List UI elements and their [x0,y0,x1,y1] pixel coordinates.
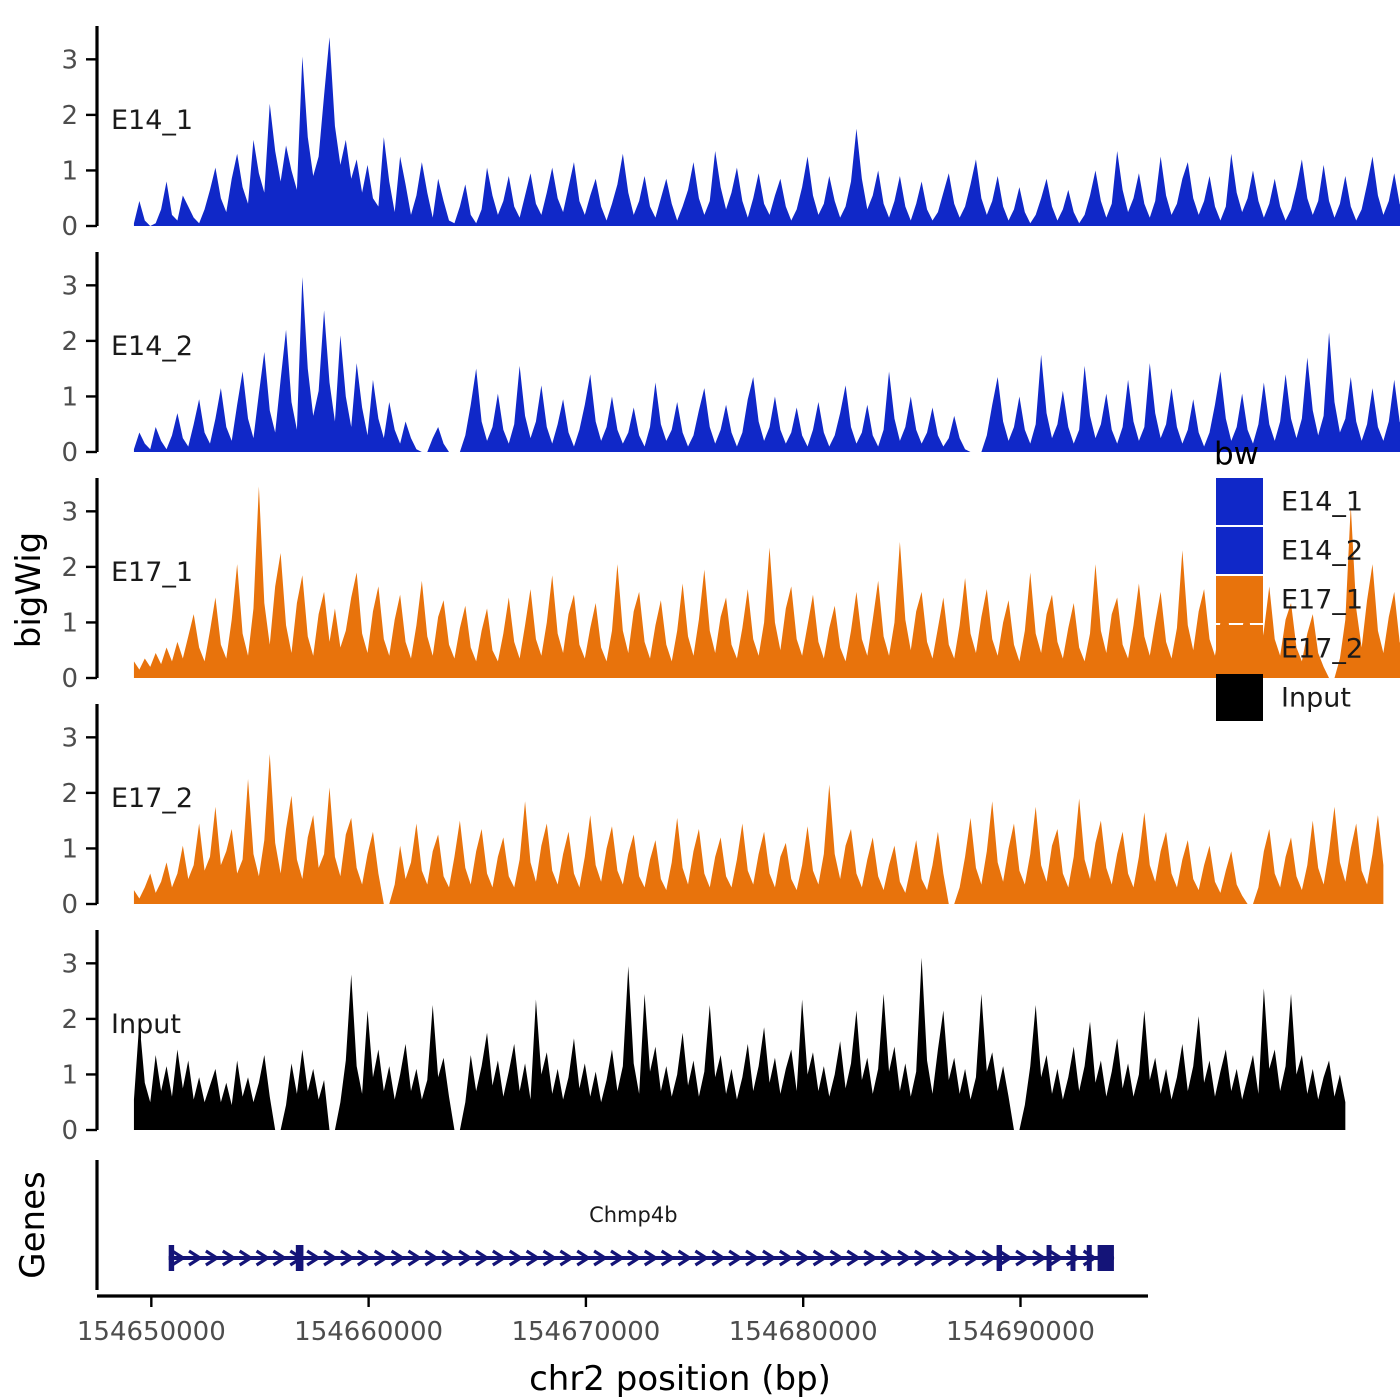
track-label-e17_1: E17_1 [111,557,193,588]
gene-exon-block [1070,1245,1075,1271]
track-label-e14_2: E14_2 [111,331,193,362]
y-tick-label: 2 [61,779,78,809]
gene-exon-block [296,1245,304,1271]
legend-swatch-e14_2[interactable] [1216,527,1263,574]
x-tick-label: 154650000 [77,1317,226,1347]
y-axis-title-bigwig: bigWig [9,532,49,649]
x-tick-label: 154670000 [511,1317,660,1347]
gene-exon-block [997,1245,1002,1271]
y-tick-label: 2 [61,1005,78,1035]
figure-root: bigWig Genes 0123E14_10123E14_20123E17_1… [0,0,1400,1400]
y-axis-title-genes: Genes [13,1171,53,1278]
y-tick-label: 0 [61,664,78,694]
y-tick-label: 3 [61,723,78,753]
y-tick-label: 2 [61,553,78,583]
y-tick-label: 0 [61,890,78,920]
track-label-e17_2: E17_2 [111,783,193,814]
x-tick-label: 154660000 [294,1317,443,1347]
legend-label-input[interactable]: Input [1281,683,1351,714]
legend-swatch-e17_1[interactable] [1216,576,1263,623]
legend-label-e17_1[interactable]: E17_1 [1281,585,1363,616]
gene-name-label: Chmp4b [589,1203,677,1227]
track-label-e14_1: E14_1 [111,105,193,136]
y-tick-label: 3 [61,949,78,979]
gene-exon-block [1047,1245,1052,1271]
y-tick-label: 0 [61,1116,78,1146]
legend-label-e14_2[interactable]: E14_2 [1281,536,1363,567]
legend-label-e17_2[interactable]: E17_2 [1281,634,1363,665]
y-tick-label: 3 [61,45,78,75]
x-tick-label: 154680000 [729,1317,878,1347]
x-tick-label: 154690000 [946,1317,1095,1347]
y-tick-label: 1 [61,834,78,864]
legend-label-e14_1[interactable]: E14_1 [1281,487,1363,518]
y-tick-label: 3 [61,497,78,527]
legend-swatch-e17_2[interactable] [1216,625,1263,672]
y-tick-label: 1 [61,1060,78,1090]
genome-browser-figure: bigWig Genes 0123E14_10123E14_20123E17_1… [0,0,1400,1400]
y-tick-label: 3 [61,271,78,301]
y-tick-label: 2 [61,327,78,357]
x-axis-title: chr2 position (bp) [529,1359,831,1399]
y-tick-label: 1 [61,382,78,412]
gene-exon-block [1098,1245,1114,1271]
y-tick-label: 1 [61,156,78,186]
legend-swatch-e14_1[interactable] [1216,478,1263,525]
y-tick-label: 0 [61,438,78,468]
track-label-input: Input [111,1009,181,1040]
y-tick-label: 0 [61,212,78,242]
gene-exon-block [1087,1245,1092,1271]
y-tick-label: 1 [61,608,78,638]
legend-swatch-input[interactable] [1216,674,1263,721]
y-tick-label: 2 [61,101,78,131]
legend-title: bw [1214,436,1259,472]
gene-exon-block [169,1245,174,1271]
